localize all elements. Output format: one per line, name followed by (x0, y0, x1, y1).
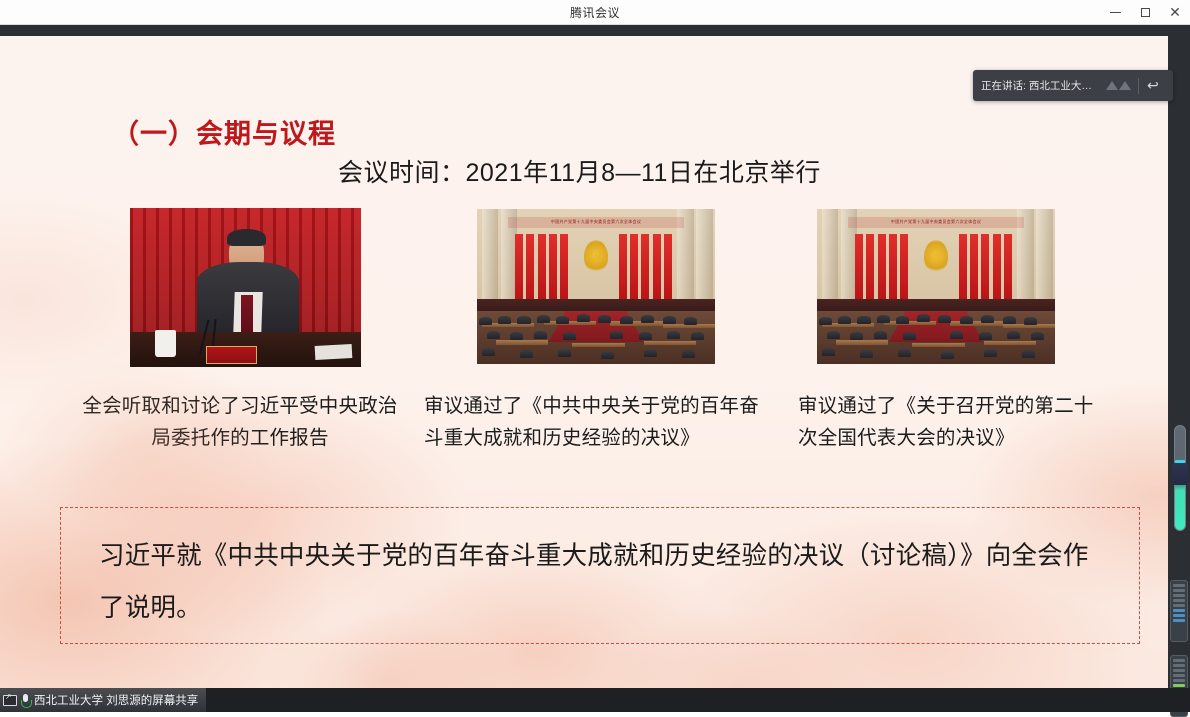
teacup (155, 330, 176, 357)
active-speaker-label: 正在讲话: 西北工业大学... (981, 78, 1099, 93)
taskbar-screenshare-item[interactable]: 西北工业大学 刘思源的屏幕共享 (0, 688, 206, 712)
minimize-icon (1110, 12, 1121, 13)
close-icon: ✕ (1169, 6, 1181, 20)
hall-scene: 中国共产党第十九届中央委员会第六次全体会议 (477, 209, 715, 364)
screen-share-icon (3, 695, 17, 706)
photo-plenary-hall-1: 中国共产党第十九届中央委员会第六次全体会议 (477, 209, 715, 364)
documents (314, 344, 352, 360)
speaker-tie (241, 295, 253, 333)
rail-slider-knob[interactable] (1172, 463, 1188, 485)
right-edge-toolbar (1168, 25, 1190, 712)
nameplate (206, 346, 257, 363)
hall-scene: 中国共产党第十九届中央委员会第六次全体会议 (817, 209, 1055, 364)
shared-screen-slide: （一）会期与议程 会议时间：2021年11月8—11日在北京举行 (0, 36, 1168, 693)
page-subtitle: 会议时间：2021年11月8—11日在北京举行 (338, 153, 821, 189)
page-title: （一）会期与议程 (112, 112, 336, 151)
window-controls: ✕ (1100, 0, 1190, 25)
divider (1138, 78, 1139, 94)
microphone-icon (21, 694, 30, 707)
meeting-shell: （一）会期与议程 会议时间：2021年11月8—11日在北京举行 (0, 25, 1190, 712)
taskbar-label: 西北工业大学 刘思源的屏幕共享 (34, 692, 198, 708)
hall-column (1036, 209, 1053, 305)
callout-box: 习近平就《中共中央关于党的百年奋斗重大成就和历史经验的决议（讨论稿）》向全会作了… (60, 507, 1140, 644)
active-speaker-pill[interactable]: 正在讲话: 西北工业大学... ↩ (973, 70, 1173, 101)
hall-attendees (817, 302, 1055, 364)
hall-column (696, 209, 713, 305)
taskbar: 西北工业大学 刘思源的屏幕共享 (0, 688, 1190, 712)
back-arrow-icon[interactable]: ↩ (1147, 79, 1159, 93)
hall-column (482, 209, 499, 305)
callout-text: 习近平就《中共中央关于党的百年奋斗重大成就和历史经验的决议（讨论稿）》向全会作了… (99, 530, 1113, 634)
window-titlebar: 腾讯会议 ✕ (0, 0, 1190, 25)
photo-caption-3: 审议通过了《关于召开党的第二十次全国代表大会的决议》 (798, 390, 1098, 454)
audio-wave-icon (1106, 81, 1131, 90)
photo-row: 中国共产党第十九届中央委员会第六次全体会议 (0, 206, 1168, 371)
photo-caption-2: 审议通过了《中共中央关于党的百年奋斗重大成就和历史经验的决议》 (424, 390, 769, 454)
minimize-button[interactable] (1100, 0, 1130, 25)
window-title: 腾讯会议 (570, 4, 620, 21)
party-emblem-icon (584, 240, 608, 274)
hall-banner-text: 中国共产党第十九届中央委员会第六次全体会议 (848, 217, 1024, 228)
hall-banner-text: 中国共产党第十九届中央委员会第六次全体会议 (508, 217, 684, 228)
hall-column (822, 209, 839, 305)
rail-panel-upper[interactable] (1170, 580, 1188, 642)
maximize-icon (1141, 8, 1150, 17)
close-button[interactable]: ✕ (1160, 0, 1190, 25)
photo-caption-1: 全会听取和讨论了习近平受中央政治局委托作的工作报告 (80, 390, 400, 454)
hall-attendees (477, 302, 715, 364)
speaker-hair (227, 229, 265, 246)
photo-xi-speaking (130, 208, 361, 367)
photo-plenary-hall-2: 中国共产党第十九届中央委员会第六次全体会议 (817, 209, 1055, 364)
maximize-button[interactable] (1130, 0, 1160, 25)
party-emblem-icon (924, 240, 948, 274)
